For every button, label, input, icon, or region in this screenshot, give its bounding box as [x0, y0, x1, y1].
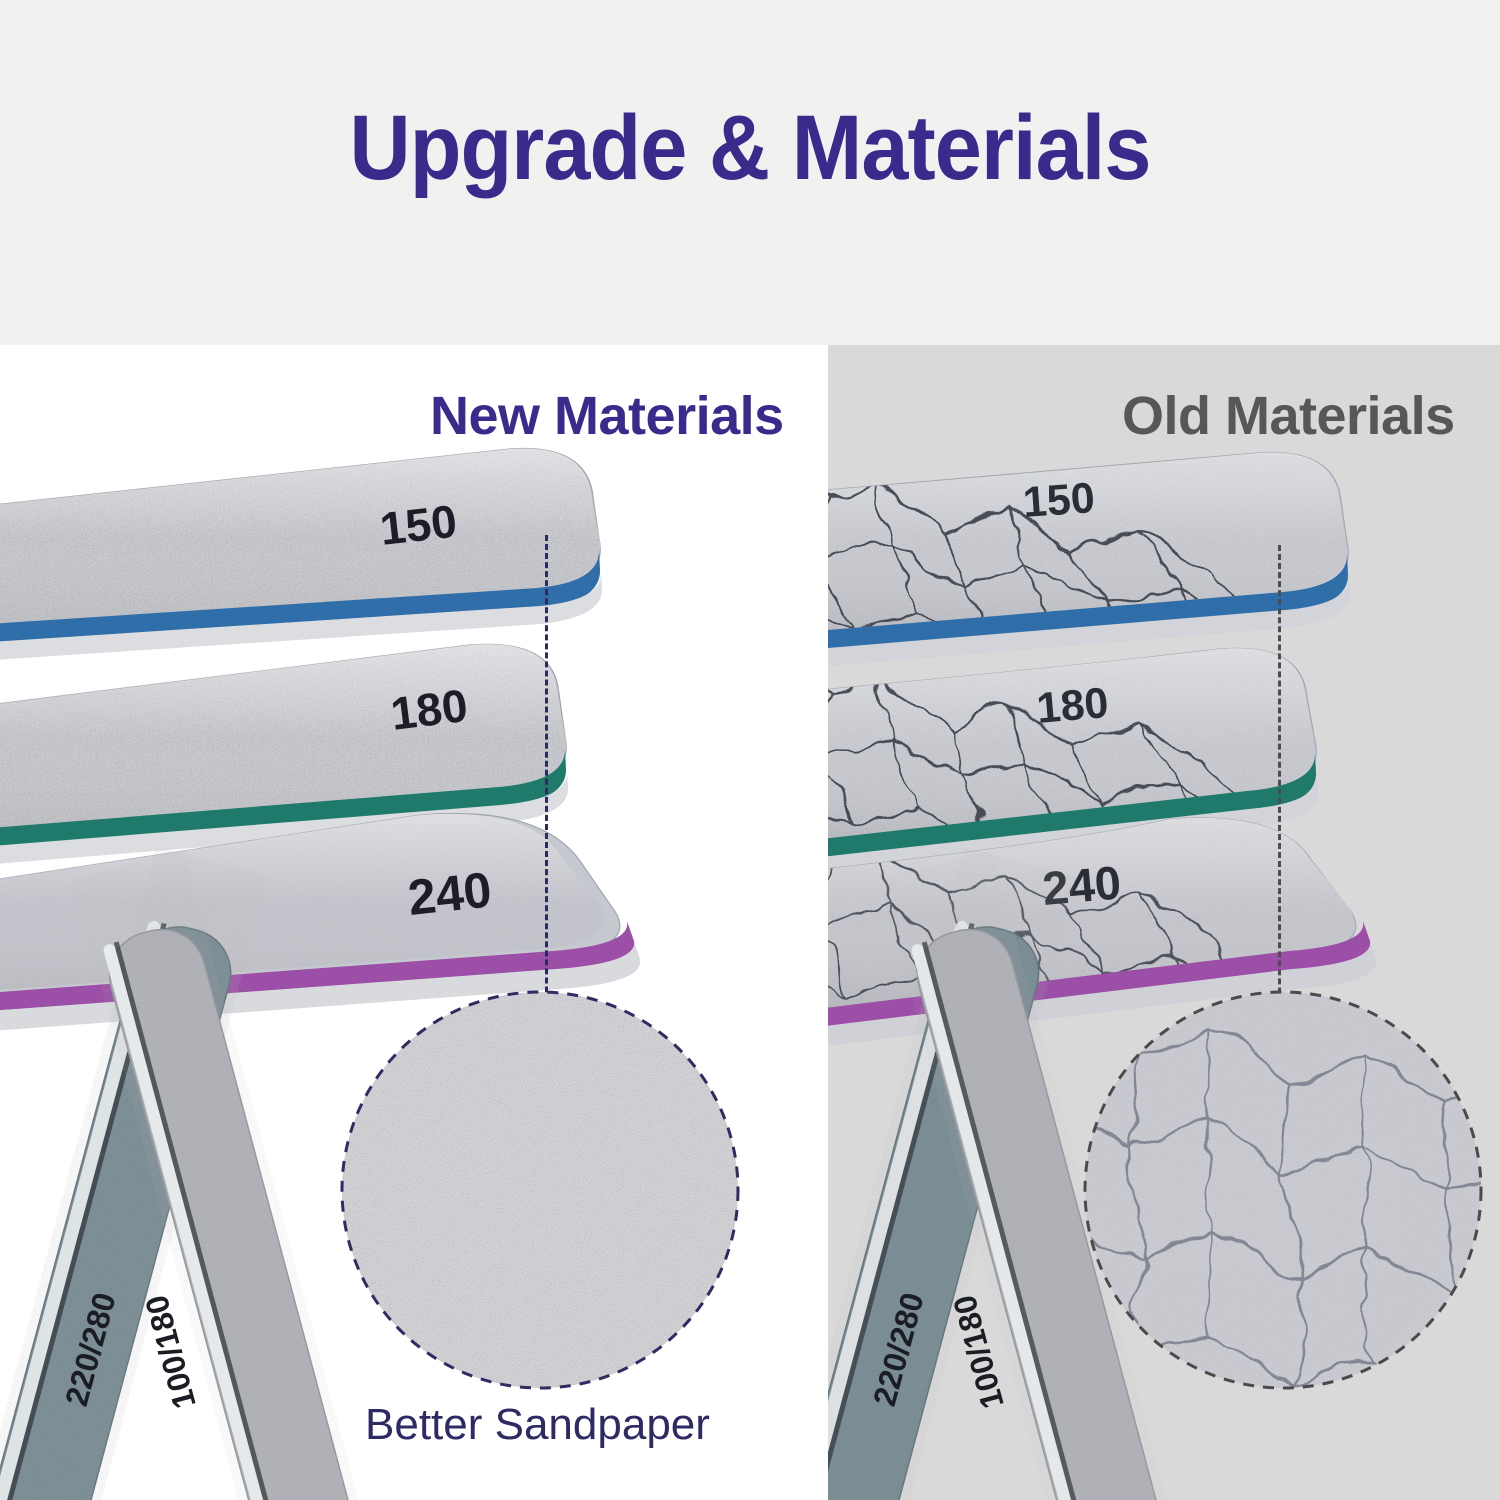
magnifier-new — [0, 345, 828, 1500]
magnifier-old — [828, 345, 1500, 1500]
page-title: Upgrade & Materials — [60, 96, 1440, 201]
heading-old-materials: Old Materials — [1122, 385, 1455, 447]
infographic-root: Upgrade & Materials — [0, 0, 1500, 1500]
header-band: Upgrade & Materials — [0, 0, 1500, 345]
panel-old-materials: 150 180 — [828, 345, 1500, 1500]
panel-new-materials: 150 180 — [0, 345, 828, 1500]
caption-better-sandpaper: Better Sandpaper — [365, 1400, 710, 1450]
heading-new-materials: New Materials — [430, 385, 784, 447]
